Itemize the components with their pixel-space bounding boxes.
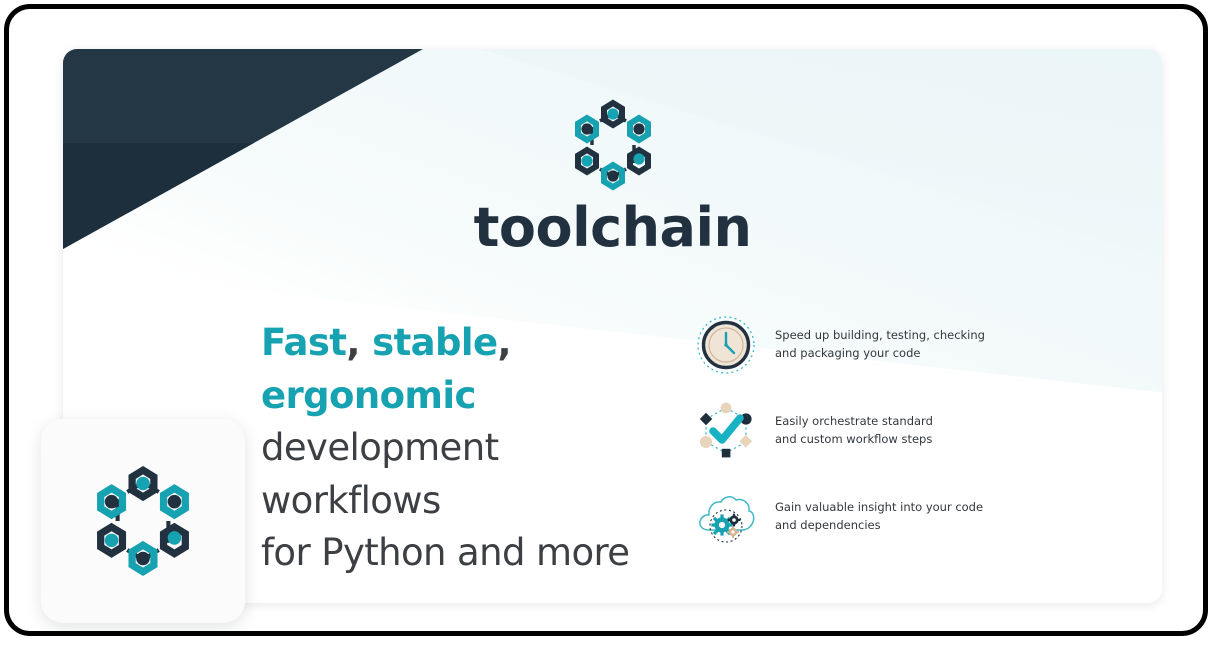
hexagon-node-graph-logo	[570, 99, 656, 191]
feature-text: Speed up building, testing, checking and…	[775, 327, 985, 363]
feature-item: Gain valuable insight into your code and…	[695, 486, 1025, 548]
cloud-gears-icon	[695, 486, 757, 548]
feature-item: Speed up building, testing, checking and…	[695, 314, 1025, 376]
feature-line-2: and dependencies	[775, 517, 983, 535]
headline-accent-ergonomic: ergonomic	[261, 374, 476, 417]
feature-line-2: and packaging your code	[775, 345, 985, 363]
screen-frame: toolchain Fast, stable, ergonomic develo…	[4, 4, 1208, 636]
clock-icon	[695, 314, 757, 376]
floating-logo-tile[interactable]	[41, 419, 245, 623]
feature-line-1: Easily orchestrate standard	[775, 413, 933, 431]
headline-accent-stable: stable	[372, 321, 497, 364]
feature-text: Gain valuable insight into your code and…	[775, 499, 983, 535]
headline-line-2: development workflows	[261, 426, 498, 522]
feature-line-2: and custom workflow steps	[775, 431, 933, 449]
headline-separator-1: ,	[346, 321, 372, 364]
hero-headline: Fast, stable, ergonomic development work…	[261, 317, 681, 580]
brand-wordmark: toolchain	[63, 201, 1162, 255]
feature-list: Speed up building, testing, checking and…	[695, 314, 1025, 572]
workflow-check-icon	[695, 400, 757, 462]
feature-item: Easily orchestrate standard and custom w…	[695, 400, 1025, 462]
headline-separator-2: ,	[497, 321, 510, 364]
feature-text: Easily orchestrate standard and custom w…	[775, 413, 933, 449]
hexagon-node-graph-logo	[91, 465, 195, 577]
headline-line-3: for Python and more	[261, 531, 629, 574]
brand-lockup: toolchain	[63, 99, 1162, 255]
feature-line-1: Gain valuable insight into your code	[775, 499, 983, 517]
feature-line-1: Speed up building, testing, checking	[775, 327, 985, 345]
headline-accent-fast: Fast	[261, 321, 346, 364]
